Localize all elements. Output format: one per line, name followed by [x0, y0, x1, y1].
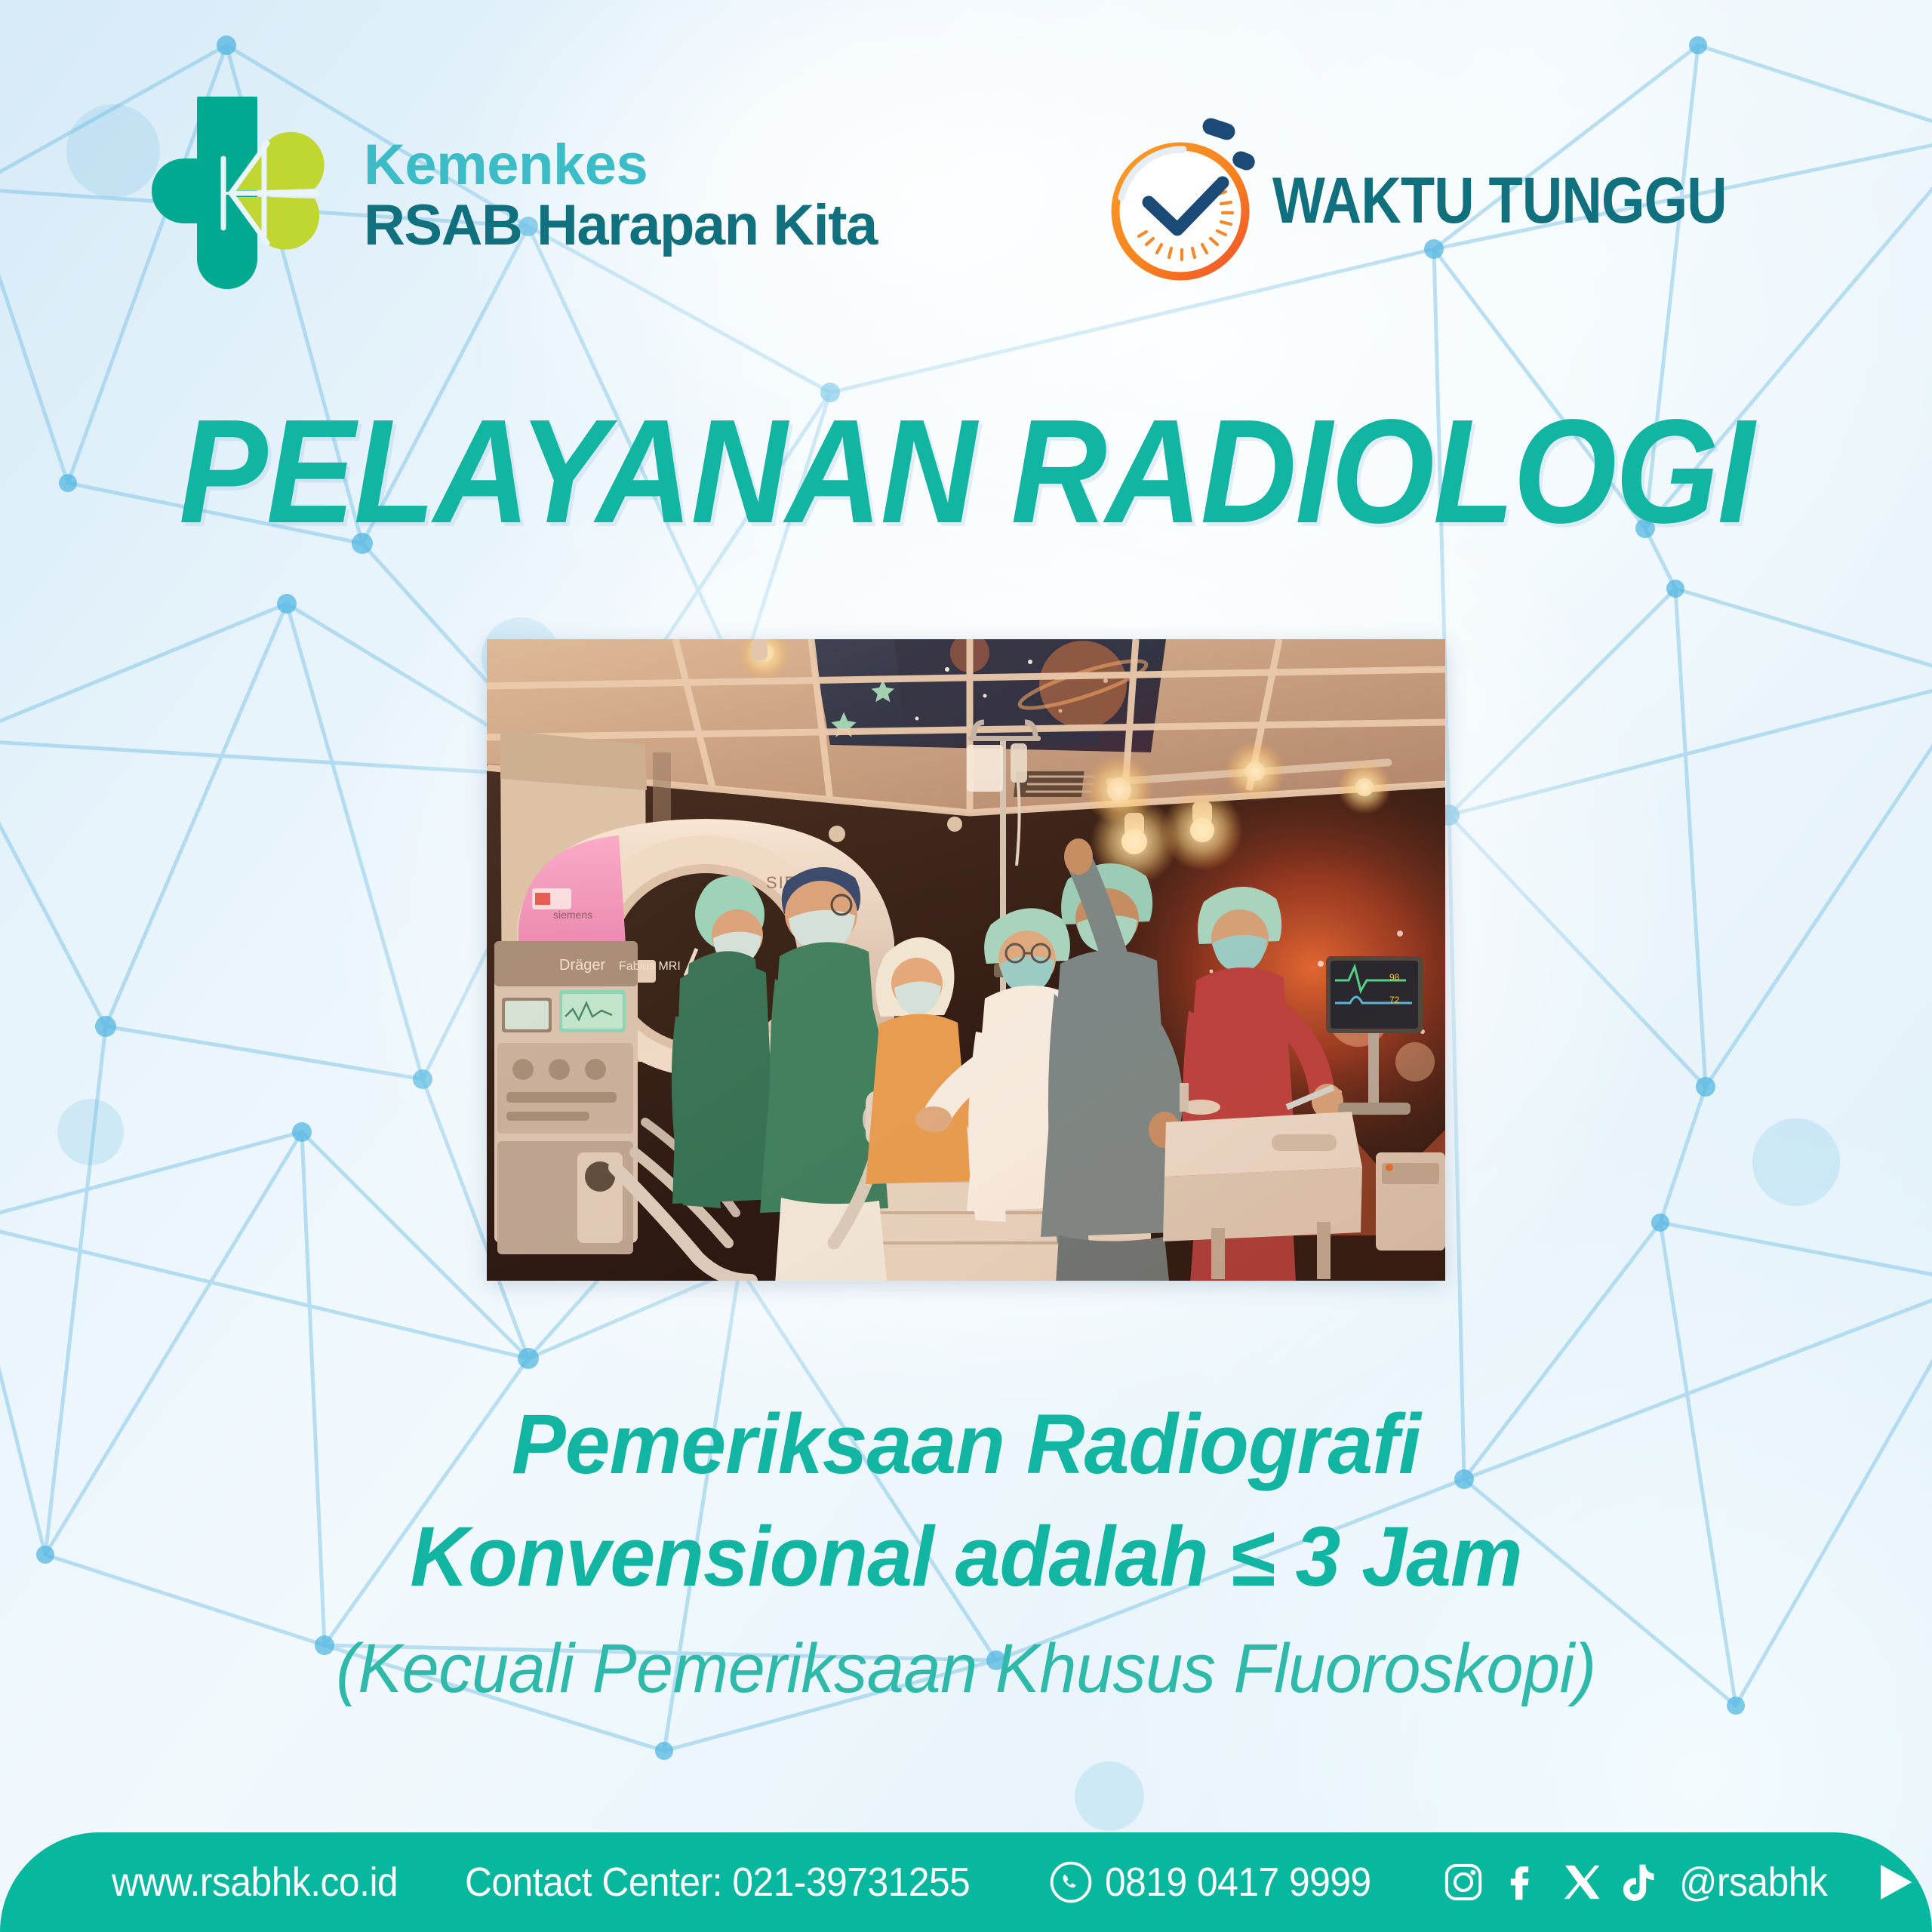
caption-line-1: Pemeriksaan Radiografi: [38, 1389, 1894, 1501]
header: Kemenkes RSAB Harapan Kita: [0, 0, 1932, 325]
caption-line-2: Konvensional adalah ≤ 3 Jam: [38, 1501, 1894, 1614]
facebook-icon[interactable]: [1501, 1861, 1543, 1903]
radiology-procedure-photo: siemens SIEMENS Dräger Fabius MRI: [487, 639, 1445, 1281]
whatsapp-icon: [1049, 1860, 1093, 1904]
footer-social-handle[interactable]: @rsabhk: [1679, 1859, 1827, 1906]
footer-bar: www.rsabhk.co.id Contact Center: 021-397…: [0, 1832, 1932, 1932]
kemenkes-logo-lockup: Kemenkes RSAB Harapan Kita: [134, 97, 877, 294]
kemenkes-clover-logo-icon: [134, 97, 325, 294]
footer-contact-row: www.rsabhk.co.id Contact Center: 021-397…: [0, 1859, 1932, 1906]
caption-block: Pemeriksaan Radiografi Konvensional adal…: [0, 1389, 1932, 1715]
waktu-tunggu-label: WAKTU TUNGGU: [1272, 164, 1727, 238]
stopwatch-icon: [1096, 113, 1271, 288]
kemenkes-wordmark: Kemenkes RSAB Harapan Kita: [364, 137, 877, 254]
tiktok-icon[interactable]: [1619, 1861, 1661, 1903]
waktu-tunggu-lockup: WAKTU TUNGGU: [1096, 113, 1801, 288]
instagram-icon[interactable]: [1442, 1861, 1484, 1903]
hospital-name: RSAB Harapan Kita: [364, 198, 877, 254]
caption-note: (Kecuali Pemeriksaan Khusus Fluoroskopi): [38, 1623, 1894, 1715]
x-twitter-icon[interactable]: [1560, 1861, 1602, 1903]
footer-contact-center: Contact Center: 021-39731255: [465, 1859, 970, 1906]
page-title: PELAYANAN RADIOLOGI: [97, 386, 1835, 556]
footer-whatsapp-number[interactable]: 0819 0417 9999: [1105, 1859, 1371, 1906]
photo-content: siemens SIEMENS Dräger Fabius MRI: [487, 639, 1445, 1281]
youtube-play-icon[interactable]: [1872, 1863, 1919, 1902]
footer-website[interactable]: www.rsabhk.co.id: [112, 1859, 398, 1906]
kemenkes-name: Kemenkes: [364, 137, 877, 193]
